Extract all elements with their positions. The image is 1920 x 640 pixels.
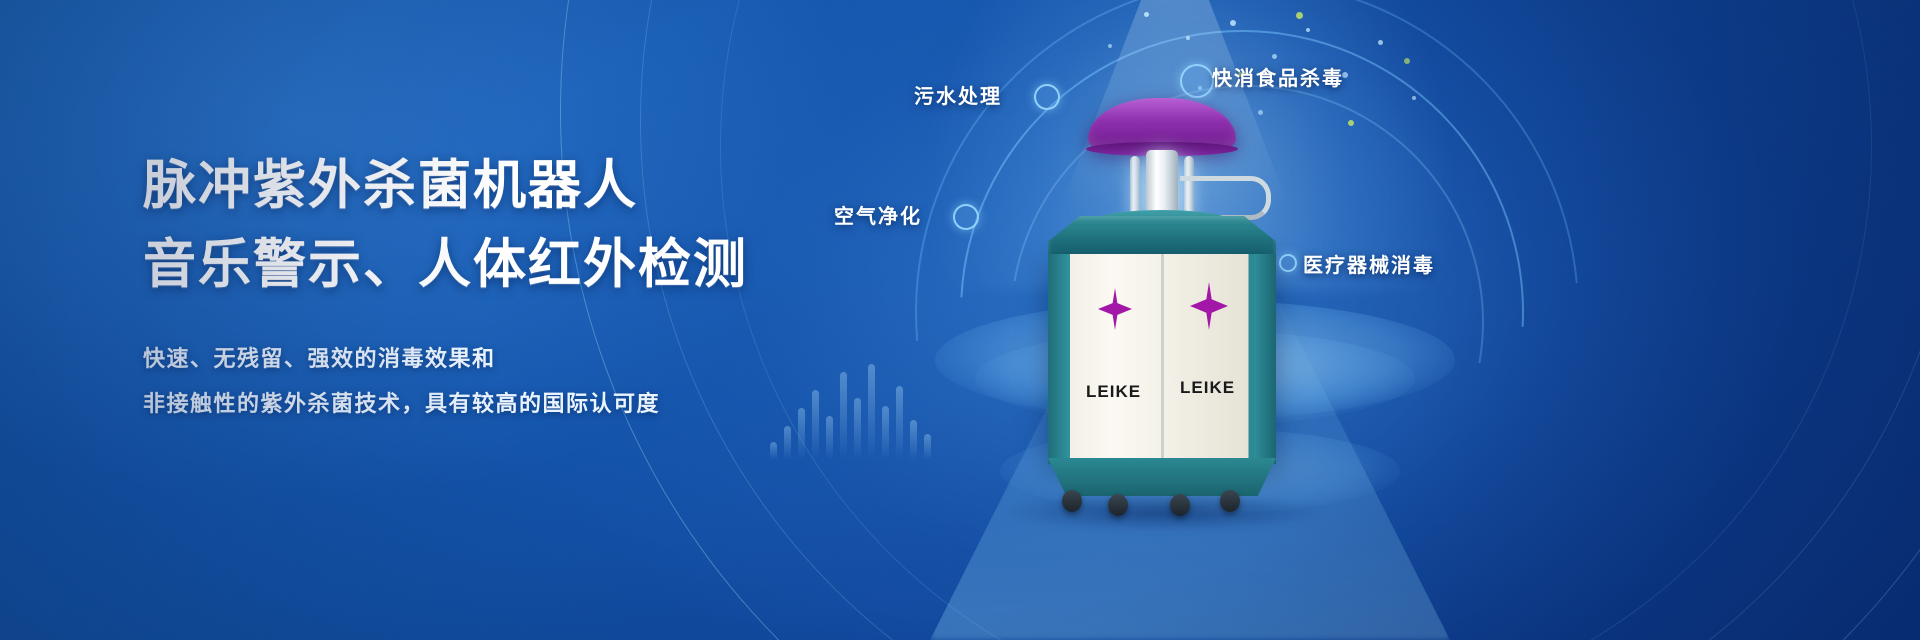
headline-block: 脉冲紫外杀菌机器人 音乐警示、人体红外检测 快速、无残留、强效的消毒效果和 非接… bbox=[143, 150, 903, 426]
robot-ground-shadow bbox=[1000, 492, 1330, 532]
robot-wheel bbox=[1170, 494, 1190, 516]
callout-node-air-purification[interactable] bbox=[953, 204, 979, 230]
uv-disinfection-robot-image: LEIKE LEIKE bbox=[1030, 98, 1290, 498]
subtitle-line-2: 非接触性的紫外杀菌技术，具有较高的国际认可度 bbox=[143, 381, 903, 426]
particle-dot bbox=[1230, 20, 1236, 26]
particle-dot bbox=[1306, 28, 1310, 32]
callout-label-medical-device[interactable]: 医疗器械消毒 bbox=[1303, 249, 1435, 278]
robot-wheel bbox=[1220, 490, 1240, 512]
particle-dot bbox=[1378, 40, 1383, 45]
robot-body-right-edge bbox=[1254, 254, 1276, 464]
robot-body-left-edge bbox=[1048, 254, 1070, 464]
particle-dot-green bbox=[1348, 120, 1354, 126]
robot-body-seam bbox=[1161, 254, 1164, 464]
particle-dot bbox=[1144, 12, 1149, 17]
callout-label-air-purification[interactable]: 空气净化 bbox=[834, 200, 922, 229]
page-title-line-2: 音乐警示、人体红外检测 bbox=[143, 229, 903, 302]
callout-label-waste-water[interactable]: 污水处理 bbox=[914, 80, 1002, 109]
robot-base bbox=[1048, 458, 1276, 496]
callout-node-fmcg-food[interactable] bbox=[1180, 64, 1214, 98]
brand-logo-left: LEIKE bbox=[1086, 382, 1141, 402]
page-title-line-1: 脉冲紫外杀菌机器人 bbox=[143, 150, 903, 223]
brand-logo-right: LEIKE bbox=[1180, 378, 1235, 398]
particle-dot bbox=[1412, 96, 1416, 100]
particle-dot-green bbox=[1296, 12, 1303, 19]
subtitle-block: 快速、无残留、强效的消毒效果和 非接触性的紫外杀菌技术，具有较高的国际认可度 bbox=[143, 336, 903, 426]
particle-dot bbox=[1108, 44, 1112, 48]
callout-label-fmcg-food[interactable]: 快消食品杀毒 bbox=[1212, 62, 1344, 91]
particle-dot bbox=[1272, 54, 1277, 59]
robot-wheel bbox=[1062, 490, 1082, 512]
particle-dot bbox=[1186, 36, 1190, 40]
subtitle-line-1: 快速、无残留、强效的消毒效果和 bbox=[143, 336, 903, 381]
robot-wheel bbox=[1108, 494, 1128, 516]
promo-banner: 脉冲紫外杀菌机器人 音乐警示、人体红外检测 快速、无残留、强效的消毒效果和 非接… bbox=[0, 0, 1920, 640]
particle-dot-green bbox=[1404, 58, 1410, 64]
